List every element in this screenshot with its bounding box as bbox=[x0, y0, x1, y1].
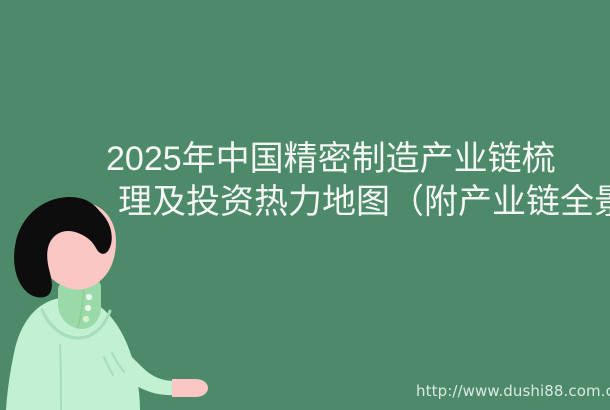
page-title: 2025年中国精密制造产业链梳 理及投资热力地图（附产业链全景 bbox=[106, 138, 610, 224]
page-title-line-1: 2025年中国精密制造产业链梳 bbox=[106, 138, 610, 181]
person-illustration bbox=[0, 195, 250, 410]
article-cover-image: 2025年中国精密制造产业链梳 理及投资热力地图（附产业链全景 http://w… bbox=[0, 0, 610, 410]
button-middle-icon bbox=[85, 305, 91, 311]
button-top-icon bbox=[86, 294, 92, 300]
person-illustration-svg bbox=[0, 195, 250, 410]
shoulder-seam bbox=[60, 345, 61, 410]
button-bottom-icon bbox=[83, 316, 89, 322]
watermark-url: http://www.dushi88.com.cn bbox=[416, 382, 610, 400]
hand-shape bbox=[172, 379, 208, 397]
page-title-line-2: 理及投资热力地图（附产业链全景 bbox=[106, 181, 610, 224]
